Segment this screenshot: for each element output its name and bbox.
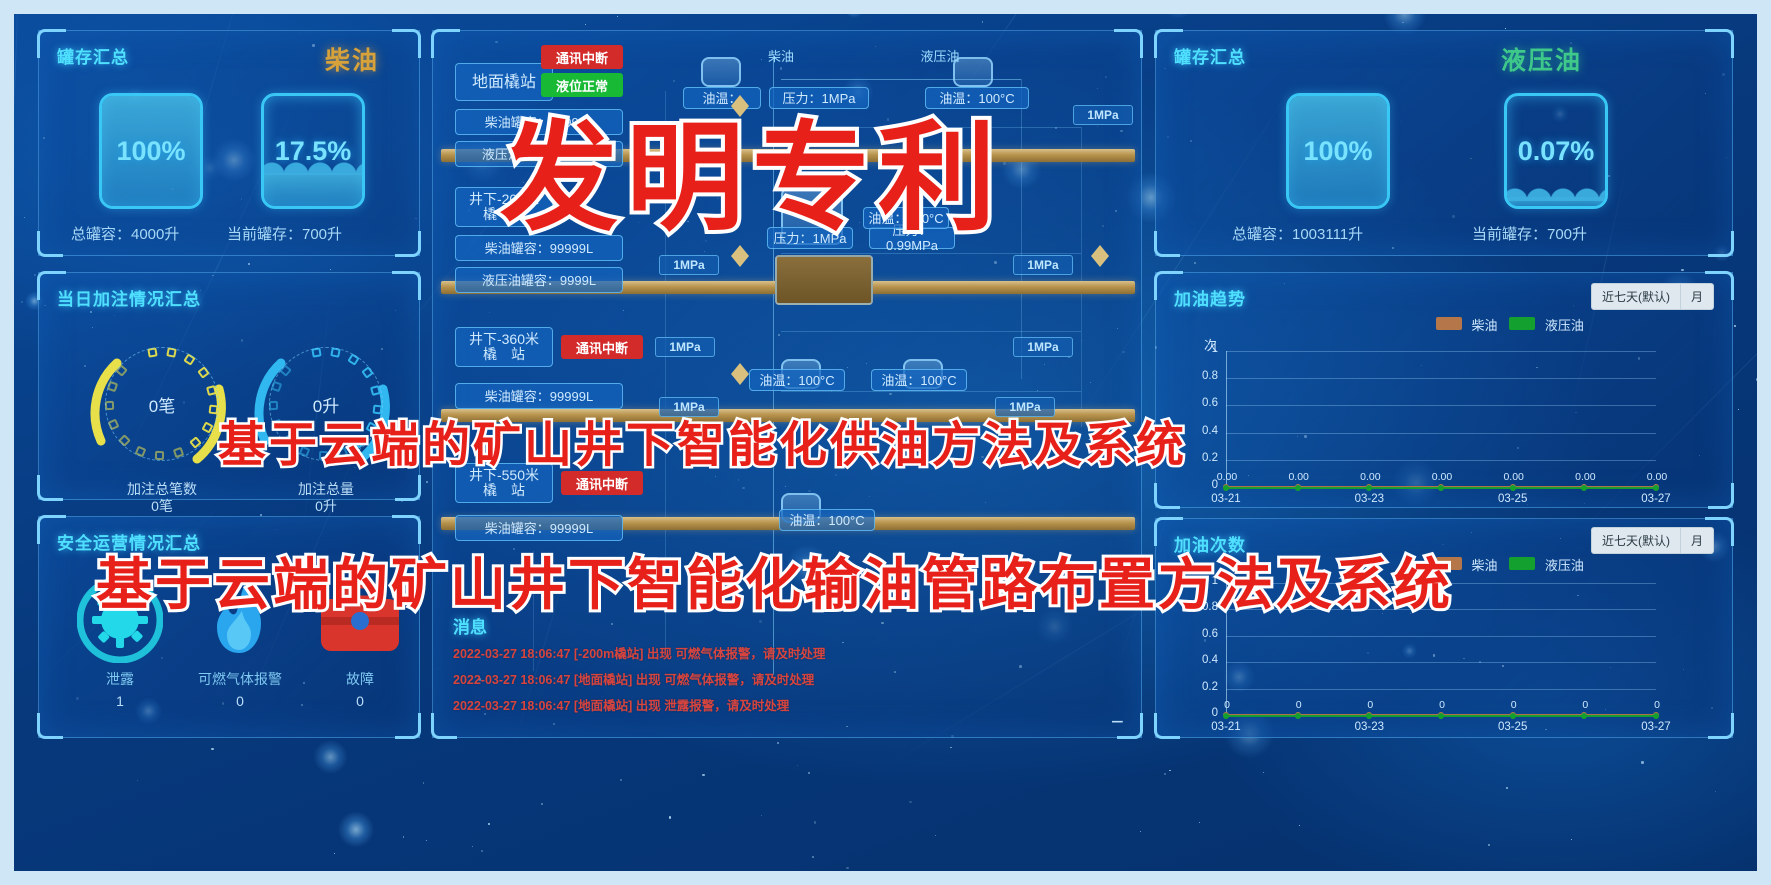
chart-point-label: 0.00 <box>1357 471 1383 483</box>
chart-point <box>1438 713 1444 719</box>
tank-total-left-caption: 总罐容：4000升 <box>71 223 179 244</box>
tank-capacity-hydraulic-200m: 液压油罐容：9999L <box>455 267 623 293</box>
tank-current-right-caption: 当前罐存：700升 <box>1472 223 1587 244</box>
chart-point <box>1581 485 1587 491</box>
refuel-count-caption-line2: 0笔 <box>87 498 237 515</box>
chart-gridline <box>1226 689 1656 690</box>
chart-point <box>1223 713 1229 719</box>
chart-y-tick: 0.4 <box>1192 654 1218 666</box>
chart-point <box>1510 713 1516 719</box>
mpa-badge-3: 1MPa <box>1013 255 1073 275</box>
chart-point <box>1653 485 1659 491</box>
station-label-360m[interactable]: 井下-360米 橇 站 <box>455 327 553 367</box>
safety-label-gas-alarm: 可燃气体报警 <box>185 669 295 689</box>
chart-y-tick: 0.2 <box>1192 452 1218 464</box>
gauge-refuel-count-value: 0笔 <box>87 329 237 479</box>
chart-point-label: 0 <box>1572 699 1598 711</box>
chart-point-label: 0.00 <box>1501 471 1527 483</box>
tank-total-right-pct: 100% <box>1289 96 1387 206</box>
chart-point <box>1295 713 1301 719</box>
chart-x-tick: 03-21 <box>1206 721 1246 733</box>
chart-point-label: 0.00 <box>1644 471 1670 483</box>
chart-gridline <box>1226 378 1656 379</box>
tank-total-left: 100% <box>99 93 203 209</box>
tank-total-right-caption: 总罐容：1003111升 <box>1232 223 1363 244</box>
message-line-1: 2022-03-27 18:06:47 [-200m橇站] 出现 可燃气体报警，… <box>453 643 825 662</box>
chart-y-tick: 1 <box>1192 343 1218 355</box>
chart-point <box>1366 485 1372 491</box>
refuel-volume-caption-line1: 加注总量 <box>251 481 401 498</box>
status-comm-360m: 通讯中断 <box>561 335 643 359</box>
chart-gridline <box>1226 460 1656 461</box>
chart-x-tick: 03-25 <box>1493 493 1533 505</box>
chart-y-tick: 0.6 <box>1192 628 1218 640</box>
chart-point <box>1581 713 1587 719</box>
oil-temp-label-5: 油温：100°C <box>871 369 967 391</box>
chart-point <box>1366 713 1372 719</box>
panel-title-daily-refuel: 当日加注情况汇总 <box>57 285 201 310</box>
chart-point-label: 0.00 <box>1429 471 1455 483</box>
chart-gridline <box>1226 636 1656 637</box>
tank-current-right-pct: 0.07% <box>1507 96 1605 206</box>
chart-gridline <box>1226 662 1656 663</box>
gauge-refuel-volume-caption: 加注总量 0升 <box>251 481 401 515</box>
safety-value-leak: 1 <box>77 693 163 709</box>
chart-point-label: 0 <box>1214 699 1240 711</box>
chart-y-tick: 0.4 <box>1192 425 1218 437</box>
chart-gridline <box>1226 405 1656 406</box>
chart-point <box>1653 713 1659 719</box>
status-comm-surface: 通讯中断 <box>541 45 623 69</box>
watermark-line-2: 基于云端的矿山井下智能化输油管路布置方法及系统 <box>96 540 1453 621</box>
chart-point <box>1438 485 1444 491</box>
panel-refuel-trend: 加油趋势 近七天(默认) 月 柴油 液压油 次 00.20.40.60.810.… <box>1155 272 1733 508</box>
chart-point-label: 0 <box>1286 699 1312 711</box>
safety-value-gas-alarm: 0 <box>185 693 295 709</box>
mpa-badge-2: 1MPa <box>659 255 719 275</box>
chart-x-tick: 03-23 <box>1349 493 1389 505</box>
chart-x-tick: 03-27 <box>1636 493 1676 505</box>
central-storage-tank <box>775 255 873 305</box>
tank-current-right: 0.07% <box>1504 93 1608 209</box>
chart-gridline <box>1226 351 1656 352</box>
chart-area-trend: 00.20.40.60.810.000.000.000.000.000.000.… <box>1156 273 1734 509</box>
chart-point-label: 0 <box>1429 699 1455 711</box>
mpa-badge-1: 1MPa <box>1073 105 1133 125</box>
mpa-badge-5: 1MPa <box>1013 337 1073 357</box>
tank-current-left-caption: 当前罐存：700升 <box>227 223 342 244</box>
chart-x-tick: 03-23 <box>1349 721 1389 733</box>
chart-y-axis <box>1226 351 1227 487</box>
chart-gridline <box>1226 433 1656 434</box>
chart-point-label: 0.00 <box>1286 471 1312 483</box>
tank-current-left: 17.5% <box>261 93 365 209</box>
chart-point-label: 0 <box>1357 699 1383 711</box>
safety-value-fault: 0 <box>317 693 403 709</box>
dashboard-root: 罐存汇总 柴油 100% 总罐容：4000升 17.5% 当前罐存：700升 当… <box>0 0 1771 885</box>
panel-left-stock: 罐存汇总 柴油 100% 总罐容：4000升 17.5% 当前罐存：700升 <box>38 30 420 256</box>
chart-point-label: 0.00 <box>1572 471 1598 483</box>
watermark-headline: 发明专利 <box>500 82 1004 253</box>
message-line-2: 2022-03-27 18:06:47 [地面橇站] 出现 可燃气体报警，请及时… <box>453 669 814 688</box>
chart-x-tick: 03-21 <box>1206 493 1246 505</box>
gauge-refuel-count: 0笔 <box>87 329 237 479</box>
product-label-hydraulic: 液压油 <box>1501 41 1582 77</box>
safety-label-leak: 泄露 <box>77 669 163 689</box>
mpa-badge-4: 1MPa <box>655 337 715 357</box>
zoom-out-button[interactable]: − <box>1111 709 1124 735</box>
tank-total-right: 100% <box>1286 93 1390 209</box>
refuel-count-caption-line1: 加注总笔数 <box>87 481 237 498</box>
chart-y-tick: 0.8 <box>1192 370 1218 382</box>
tank-total-left-pct: 100% <box>102 96 200 206</box>
safety-label-fault: 故障 <box>317 669 403 689</box>
watermark-line-1: 基于云端的矿山井下智能化供油方法及系统 <box>218 405 1187 475</box>
chart-point <box>1510 485 1516 491</box>
oil-temp-label-4: 油温：100°C <box>749 369 845 391</box>
refuel-volume-caption-line2: 0升 <box>251 498 401 515</box>
chart-point-label: 0 <box>1501 699 1527 711</box>
panel-title-left-stock: 罐存汇总 <box>57 43 129 68</box>
panel-title-right-stock: 罐存汇总 <box>1174 43 1246 68</box>
chart-point-label: 0.00 <box>1214 471 1240 483</box>
oil-temp-label-6: 油温：100°C <box>779 509 875 531</box>
chart-point-label: 0 <box>1644 699 1670 711</box>
chart-point <box>1223 485 1229 491</box>
chart-x-tick: 03-27 <box>1636 721 1676 733</box>
product-label-diesel: 柴油 <box>325 41 379 77</box>
chart-y-tick: 0.6 <box>1192 397 1218 409</box>
tank-current-left-pct: 17.5% <box>264 96 362 206</box>
gauge-refuel-count-caption: 加注总笔数 0笔 <box>87 481 237 515</box>
chart-x-tick: 03-25 <box>1493 721 1533 733</box>
chart-point <box>1295 485 1301 491</box>
equipment-label-diesel: 柴油 <box>751 45 811 67</box>
tank-capacity-diesel-550m: 柴油罐容：99999L <box>455 515 623 541</box>
panel-right-stock: 罐存汇总 液压油 100% 总罐容：1003111升 0.07% 当前罐存：70… <box>1155 30 1733 256</box>
message-line-3: 2022-03-27 18:06:47 [地面橇站] 出现 泄露报警，请及时处理 <box>453 695 789 714</box>
chart-y-tick: 0.2 <box>1192 681 1218 693</box>
